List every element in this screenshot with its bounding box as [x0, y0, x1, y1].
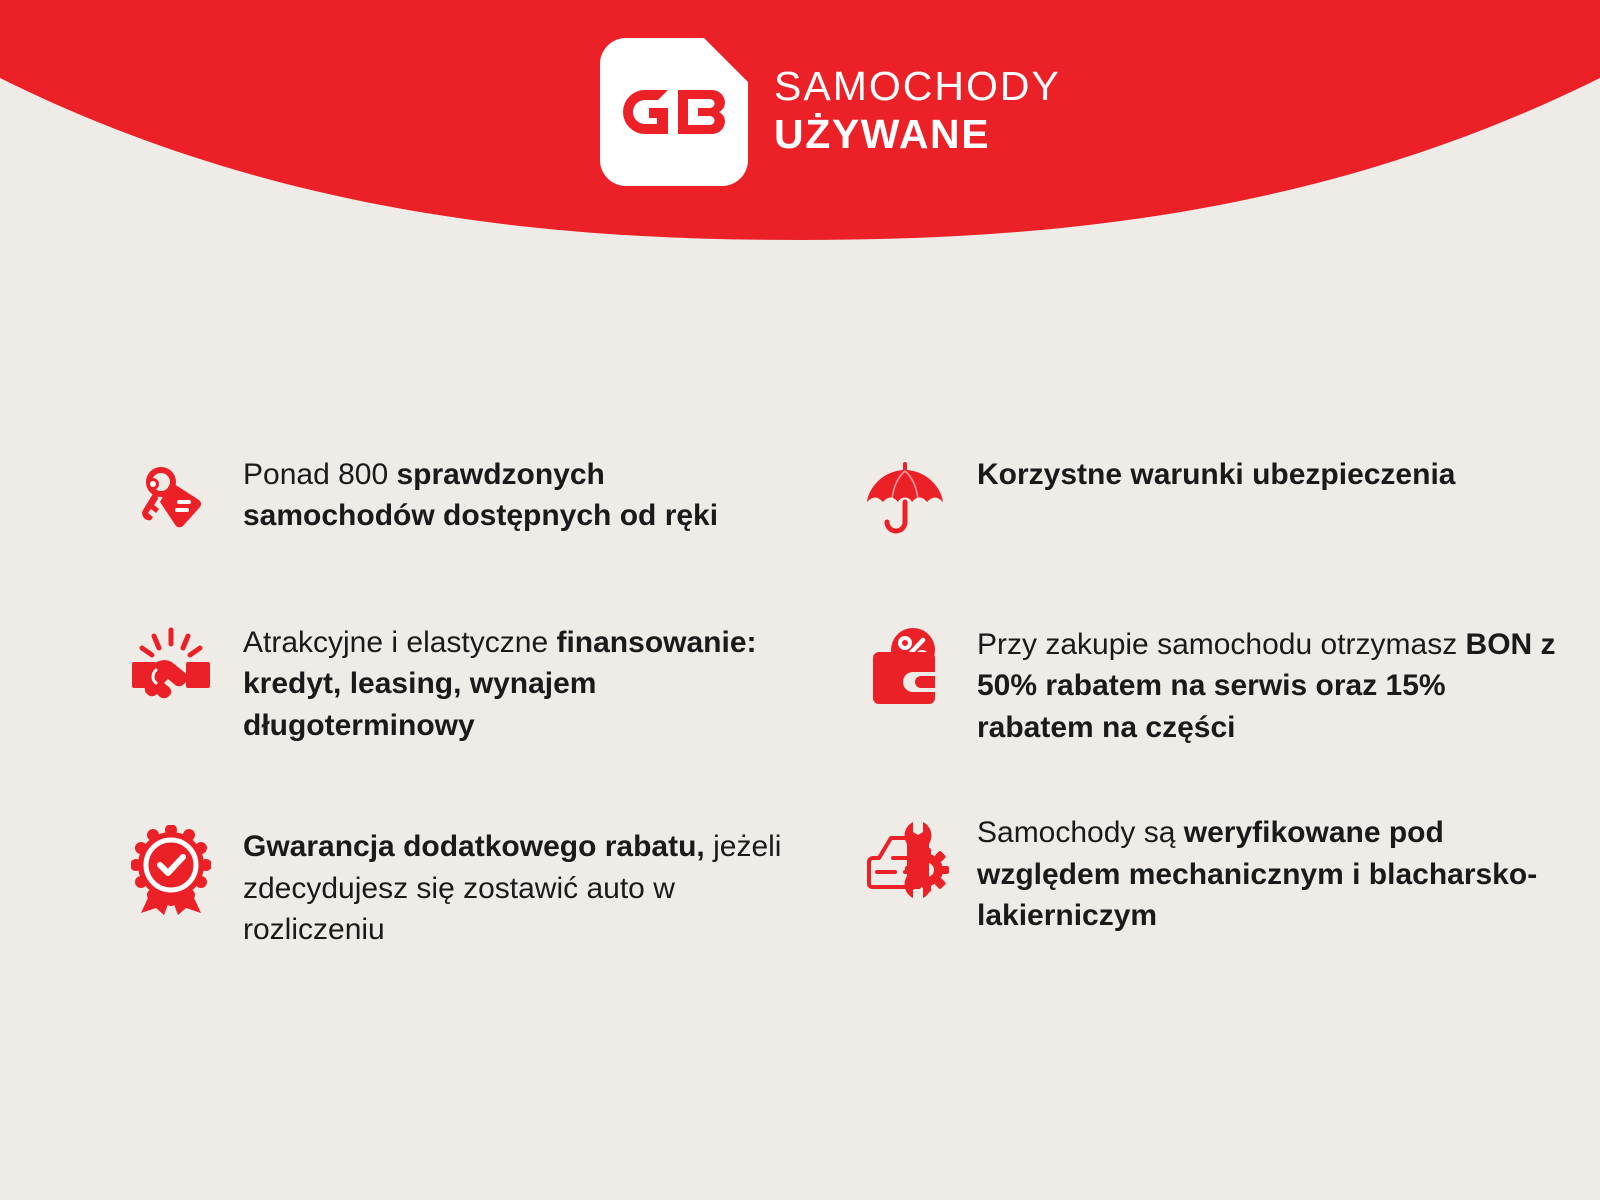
wallet-percent-icon	[859, 622, 951, 714]
benefits-column-left: Ponad 800 sprawdzonych samochodów dostęp…	[125, 430, 845, 950]
benefit-text: Ponad 800 sprawdzonych samochodów dostęp…	[243, 452, 803, 537]
handshake-icon	[125, 620, 217, 712]
car-wrench-gear-icon	[859, 810, 951, 902]
benefit-item: Gwarancja dodatkowego rabatu, jeżeli zde…	[125, 824, 845, 950]
benefit-item: Samochody są weryfikowane pod względem m…	[859, 810, 1600, 936]
benefit-text: Gwarancja dodatkowego rabatu, jeżeli zde…	[243, 824, 803, 950]
benefits-column-right: Korzystne warunki ubezpieczenia	[845, 430, 1600, 950]
gb-logo-mark	[600, 38, 748, 186]
benefit-lead: Przy zakupie samochodu otrzymasz	[977, 628, 1466, 661]
brand-wordmark: SAMOCHODY UŻYWANE	[774, 66, 1061, 159]
brand-line-1: SAMOCHODY	[774, 66, 1061, 107]
brand-line-2: UŻYWANE	[774, 114, 1061, 155]
benefits-grid: Ponad 800 sprawdzonych samochodów dostęp…	[0, 430, 1600, 950]
benefit-text: Atrakcyjne i elastyczne finansowanie: kr…	[243, 620, 803, 746]
benefit-lead: Atrakcyjne i elastyczne	[243, 626, 556, 659]
benefit-emphasis: Korzystne warunki ubezpieczenia	[977, 458, 1455, 491]
car-key-tag-icon	[125, 452, 217, 544]
benefit-text: Przy zakupie samochodu otrzymasz BON z 5…	[977, 622, 1557, 748]
benefit-item: Ponad 800 sprawdzonych samochodów dostęp…	[125, 452, 845, 544]
benefit-text: Samochody są weryfikowane pod względem m…	[977, 810, 1557, 936]
benefit-item: Atrakcyjne i elastyczne finansowanie: kr…	[125, 620, 845, 746]
infographic-page: SAMOCHODY UŻYWANE	[0, 0, 1600, 1200]
benefit-item: Przy zakupie samochodu otrzymasz BON z 5…	[859, 622, 1600, 748]
benefit-emphasis: Gwarancja dodatkowego rabatu,	[243, 830, 705, 863]
brand-logo-lockup: SAMOCHODY UŻYWANE	[600, 38, 1061, 186]
gb-logo-tile-icon	[600, 38, 748, 186]
benefit-text: Korzystne warunki ubezpieczenia	[977, 452, 1455, 495]
award-badge-check-icon	[125, 824, 217, 916]
benefit-lead: Samochody są	[977, 816, 1184, 849]
benefit-lead: Ponad 800	[243, 458, 396, 491]
umbrella-icon	[859, 452, 951, 544]
benefit-item: Korzystne warunki ubezpieczenia	[859, 452, 1600, 544]
header-banner: SAMOCHODY UŻYWANE	[0, 0, 1600, 250]
